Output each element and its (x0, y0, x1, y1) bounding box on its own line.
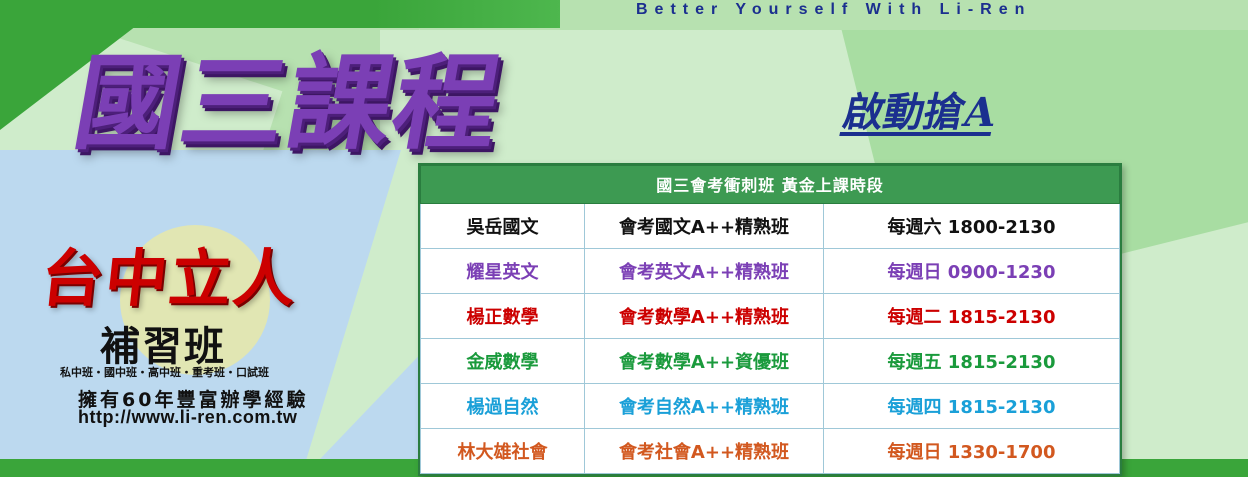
brand-website[interactable]: http://www.li-ren.com.tw (78, 407, 297, 428)
cell-teacher: 林大雄社會 (421, 429, 585, 474)
cell-course: 會考英文A++精熟班 (585, 249, 824, 294)
cell-time: 每週四 1815-2130 (824, 384, 1120, 429)
cell-time: 每週日 1330-1700 (824, 429, 1120, 474)
page-title: 國三課程 (65, 18, 516, 169)
cell-teacher: 吳岳國文 (421, 204, 585, 249)
cell-course: 會考自然A++精熟班 (585, 384, 824, 429)
cell-course: 會考數學A++精熟班 (585, 294, 824, 339)
table-row: 楊過自然會考自然A++精熟班每週四 1815-2130 (421, 384, 1120, 429)
cell-time: 每週二 1815-2130 (824, 294, 1120, 339)
table-row: 林大雄社會會考社會A++精熟班每週日 1330-1700 (421, 429, 1120, 474)
cell-course: 會考國文A++精熟班 (585, 204, 824, 249)
cell-time: 每週五 1815-2130 (824, 339, 1120, 384)
brand-categories: 私中班・國中班・高中班・重考班・口試班 (60, 364, 269, 380)
cell-time: 每週日 0900-1230 (824, 249, 1120, 294)
cell-course: 會考社會A++精熟班 (585, 429, 824, 474)
cell-time: 每週六 1800-2130 (824, 204, 1120, 249)
table-row: 吳岳國文會考國文A++精熟班每週六 1800-2130 (421, 204, 1120, 249)
schedule-table: 國三會考衝刺班 黃金上課時段 吳岳國文會考國文A++精熟班每週六 1800-21… (418, 163, 1122, 476)
brand-name: 台中立人 (37, 228, 302, 318)
table-row: 楊正數學會考數學A++精熟班每週二 1815-2130 (421, 294, 1120, 339)
cell-teacher: 金威數學 (421, 339, 585, 384)
page-subtitle: 啟動搶A (839, 80, 1002, 138)
promo-banner: Better Yourself With Li-Ren 國三課程 啟動搶A 台中… (0, 0, 1248, 477)
schedule-header: 國三會考衝刺班 黃金上課時段 (421, 166, 1120, 204)
tagline: Better Yourself With Li-Ren (636, 1, 1031, 19)
table-row: 金威數學會考數學A++資優班每週五 1815-2130 (421, 339, 1120, 384)
table-row: 耀星英文會考英文A++精熟班每週日 0900-1230 (421, 249, 1120, 294)
cell-teacher: 耀星英文 (421, 249, 585, 294)
cell-teacher: 楊正數學 (421, 294, 585, 339)
cell-course: 會考數學A++資優班 (585, 339, 824, 384)
cell-teacher: 楊過自然 (421, 384, 585, 429)
